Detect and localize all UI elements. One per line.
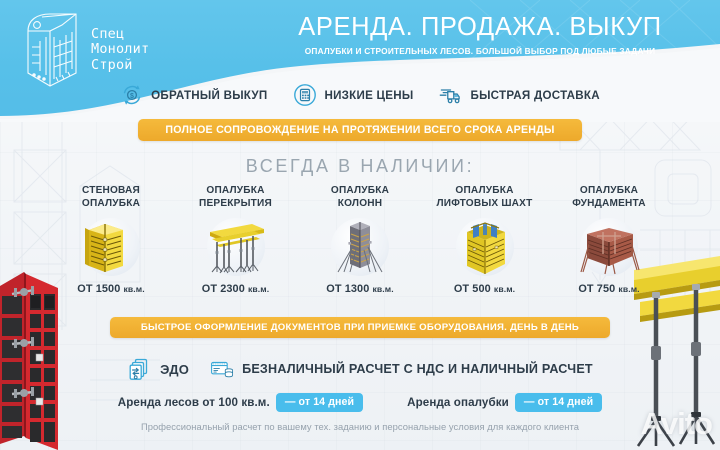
product-name-line1: СТЕНОВАЯ: [82, 185, 140, 198]
product-name: ОПАЛУБКА КОЛОНН: [331, 185, 389, 212]
column-formwork-image: [314, 214, 406, 280]
header-title-block: АРЕНДА. ПРОДАЖА. ВЫКУП ОПАЛУБКИ И СТРОИТ…: [250, 14, 710, 56]
support-ribbon-text: ПОЛНОЕ СОПРОВОЖДЕНИЕ НА ПРОТЯЖЕНИИ ВСЕГО…: [165, 124, 554, 136]
product-price-unit: кв.м.: [373, 284, 394, 294]
product-name: ОПАЛУБКА ЛИФТОВЫХ ШАХТ: [437, 185, 533, 212]
product-image-wrap: [190, 214, 282, 280]
feature-low-prices[interactable]: НИЗКИЕ ЦЕНЫ: [293, 83, 413, 107]
product-name-line1: ОПАЛУБКА: [331, 185, 389, 198]
term-formwork-label: Аренда опалубки: [407, 396, 509, 409]
stock-heading: ВСЕГДА В НАЛИЧИИ:: [0, 156, 720, 177]
product-name-line2: ОПАЛУБКА: [82, 198, 140, 211]
documents-ribbon-banner: БЫСТРОЕ ОФОРМЛЕНИЕ ДОКУМЕНТОВ ПРИ ПРИЕМК…: [110, 317, 610, 338]
product-price-unit: кв.м.: [494, 284, 515, 294]
product-price-unit: кв.м.: [124, 284, 145, 294]
product-name-line2: ЛИФТОВЫХ ШАХТ: [437, 198, 533, 211]
product-slab-formwork[interactable]: ОПАЛУБКА ПЕРЕКРЫТИЯ: [177, 185, 295, 307]
product-foundation-formwork[interactable]: ОПАЛУБКА ФУНДАМЕНТА: [550, 185, 668, 307]
product-name: ОПАЛУБКА ПЕРЕКРЫТИЯ: [199, 185, 272, 212]
feature-buyback-label: ОБРАТНЫЙ ВЫКУП: [151, 89, 267, 102]
payment-methods-label: БЕЗНАЛИЧНЫЙ РАСЧЕТ С НДС И НАЛИЧНЫЙ РАСЧ…: [242, 362, 593, 376]
feature-fast-delivery-label: БЫСТРАЯ ДОСТАВКА: [470, 89, 599, 102]
slab-formwork-props-image: [190, 214, 282, 280]
buyback-circular-arrows-dollar-icon: $: [120, 83, 144, 107]
product-name-line2: ПЕРЕКРЫТИЯ: [199, 198, 272, 211]
product-price: ОТ 750 кв.м.: [578, 283, 639, 295]
product-column-formwork[interactable]: ОПАЛУБКА КОЛОНН: [301, 185, 419, 307]
footer-note: Профессиональный расчет по вашему тех. з…: [0, 421, 720, 432]
product-name: СТЕНОВАЯ ОПАЛУБКА: [82, 185, 140, 212]
payment-edo-label: ЭДО: [160, 362, 189, 377]
products-row: СТЕНОВАЯ ОПАЛУБКА: [52, 185, 668, 307]
product-name-line2: КОЛОНН: [331, 198, 389, 211]
product-price: ОТ 2300 кв.м.: [202, 283, 269, 295]
page-title: АРЕНДА. ПРОДАЖА. ВЫКУП: [250, 14, 710, 41]
lift-shaft-formwork-image: [439, 214, 531, 280]
calculator-circle-icon: [293, 83, 317, 107]
term-scaffolding-label: Аренда лесов от 100 кв.м.: [118, 396, 270, 409]
term-formwork: Аренда опалубки — от 14 дней: [407, 393, 602, 412]
term-formwork-badge: — от 14 дней: [515, 393, 602, 412]
product-name-line1: ОПАЛУБКА: [437, 185, 533, 198]
product-name: ОПАЛУБКА ФУНДАМЕНТА: [572, 185, 646, 212]
foundation-formwork-image: [563, 214, 655, 280]
brand-line-1: Спец: [91, 27, 149, 42]
product-name-line1: ОПАЛУБКА: [199, 185, 272, 198]
feature-buyback[interactable]: $ ОБРАТНЫЙ ВЫКУП: [120, 83, 267, 107]
product-price-value: ОТ 1300: [326, 283, 369, 295]
brand-name: Спец Монолит Строй: [91, 27, 149, 72]
advertisement-banner: Спец Монолит Строй АРЕНДА. ПРОДАЖА. ВЫКУ…: [0, 0, 720, 450]
payment-edo[interactable]: ЭДО: [127, 356, 189, 382]
term-scaffolding-badge: — от 14 дней: [276, 393, 363, 412]
rental-terms-row: Аренда лесов от 100 кв.м. — от 14 дней А…: [0, 391, 720, 413]
term-scaffolding: Аренда лесов от 100 кв.м. — от 14 дней: [118, 393, 363, 412]
product-price-unit: кв.м.: [248, 284, 269, 294]
support-ribbon-banner: ПОЛНОЕ СОПРОВОЖДЕНИЕ НА ПРОТЯЖЕНИИ ВСЕГО…: [138, 119, 582, 141]
brand-line-2: Монолит: [91, 42, 149, 57]
brand-line-3: Строй: [91, 58, 149, 73]
wall-formwork-yellow-image: [65, 214, 157, 280]
product-image-wrap: [65, 214, 157, 280]
payment-row: ЭДО БЕЗНАЛИЧНЫЙ РАСЧЕТ С НДС И: [0, 352, 720, 386]
product-name-line1: ОПАЛУБКА: [572, 185, 646, 198]
feature-fast-delivery[interactable]: БЫСТРАЯ ДОСТАВКА: [439, 83, 599, 107]
delivery-truck-icon: [439, 83, 463, 107]
product-image-wrap: [563, 214, 655, 280]
documents-ribbon-text: БЫСТРОЕ ОФОРМЛЕНИЕ ДОКУМЕНТОВ ПРИ ПРИЕМК…: [141, 322, 579, 333]
product-price: ОТ 500 кв.м.: [454, 283, 515, 295]
product-price-value: ОТ 2300: [202, 283, 245, 295]
product-price-value: ОТ 750: [578, 283, 615, 295]
product-lift-shaft-formwork[interactable]: ОПАЛУБКА ЛИФТОВЫХ ШАХТ: [426, 185, 544, 307]
product-wall-formwork[interactable]: СТЕНОВАЯ ОПАЛУБКА: [52, 185, 170, 307]
features-row: $ ОБРАТНЫЙ ВЫКУП НИЗКИЕ ЦЕНЫ: [0, 78, 720, 112]
product-name-line2: ФУНДАМЕНТА: [572, 198, 646, 211]
product-price-value: ОТ 1500: [77, 283, 120, 295]
product-image-wrap: [314, 214, 406, 280]
svg-text:$: $: [130, 93, 134, 100]
product-price-unit: кв.м.: [618, 284, 639, 294]
card-and-coins-icon: [209, 356, 235, 382]
page-subtitle: ОПАЛУБКИ И СТРОИТЕЛЬНЫХ ЛЕСОВ. БОЛЬШОЙ В…: [250, 46, 710, 56]
product-image-wrap: [439, 214, 531, 280]
feature-low-prices-label: НИЗКИЕ ЦЕНЫ: [324, 89, 413, 102]
payment-methods[interactable]: БЕЗНАЛИЧНЫЙ РАСЧЕТ С НДС И НАЛИЧНЫЙ РАСЧ…: [209, 356, 593, 382]
product-price-value: ОТ 500: [454, 283, 491, 295]
edo-documents-exchange-icon: [127, 356, 153, 382]
product-price: ОТ 1300 кв.м.: [326, 283, 393, 295]
avito-watermark: Avito: [641, 406, 712, 442]
product-price: ОТ 1500 кв.м.: [77, 283, 144, 295]
